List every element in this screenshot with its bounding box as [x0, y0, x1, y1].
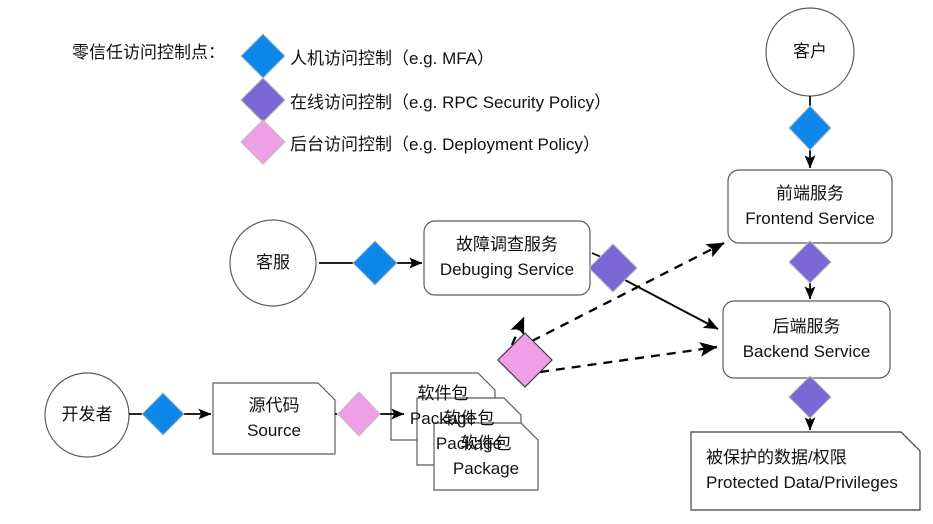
node-package-front-label-cn: 软件包 — [461, 432, 512, 457]
node-frontend: 前端服务 Frontend Service — [728, 170, 892, 243]
control-point-developer-source — [142, 393, 184, 435]
legend-label-human-access-control: 人机访问控制（e.g. MFA） — [290, 44, 494, 69]
control-point-package-deploy — [498, 333, 552, 387]
edge-cp-to-backend-diagonal — [625, 280, 718, 329]
control-point-support-debugging — [353, 241, 397, 285]
node-debugging-label-en: Debuging Service — [440, 258, 574, 283]
edge-deploy-to-debugging-dashed — [512, 317, 524, 345]
node-backend: 后端服务 Backend Service — [723, 301, 890, 378]
node-frontend-label-cn: 前端服务 — [776, 182, 844, 207]
control-point-customer-frontend — [789, 106, 831, 150]
node-backend-label-cn: 后端服务 — [773, 315, 841, 340]
node-developer-label-cn: 开发者 — [62, 405, 113, 425]
node-support-label-cn: 客服 — [256, 253, 290, 273]
legend-diamond-online-access-control — [241, 78, 285, 122]
control-point-backend-data — [789, 376, 831, 418]
node-debugging: 故障调查服务 Debuging Service — [424, 221, 590, 295]
node-debugging-label-cn: 故障调查服务 — [456, 233, 558, 258]
node-customer-label-cn: 客户 — [793, 42, 827, 62]
edge-deploy-to-backend-dashed — [540, 347, 717, 372]
node-source: 源代码 Source — [213, 383, 335, 454]
node-source-label-cn: 源代码 — [249, 394, 300, 419]
node-developer: 开发者 — [43, 385, 131, 445]
node-protected-data: 被保护的数据/权限 Protected Data/Privileges — [706, 432, 920, 510]
node-backend-label-en: Backend Service — [743, 340, 871, 365]
diagram-canvas: 零信任访问控制点： 人机访问控制（e.g. MFA） 在线访问控制（e.g. R… — [0, 0, 933, 524]
node-protected-data-label-cn: 被保护的数据/权限 — [706, 446, 847, 471]
control-point-debugging-backend — [589, 244, 637, 292]
legend-label-backend-access-control: 后台访问控制（e.g. Deployment Policy） — [290, 130, 600, 155]
legend-label-online-access-control: 在线访问控制（e.g. RPC Security Policy） — [290, 88, 611, 113]
node-protected-data-label-en: Protected Data/Privileges — [706, 471, 898, 496]
control-point-frontend-backend — [789, 241, 831, 283]
legend-diamond-human-access-control — [241, 34, 285, 78]
node-support: 客服 — [229, 233, 317, 293]
node-customer: 客户 — [766, 22, 854, 82]
node-package-front-label-en: Package — [453, 457, 519, 482]
node-source-label-en: Source — [247, 419, 301, 444]
node-package-front: 软件包 Package — [434, 423, 538, 490]
control-point-source-package — [338, 392, 380, 436]
legend-diamond-backend-access-control — [241, 120, 285, 164]
edge-debugging-to-cp — [592, 253, 601, 257]
node-frontend-label-en: Frontend Service — [745, 207, 874, 232]
legend-title: 零信任访问控制点： — [72, 38, 225, 63]
